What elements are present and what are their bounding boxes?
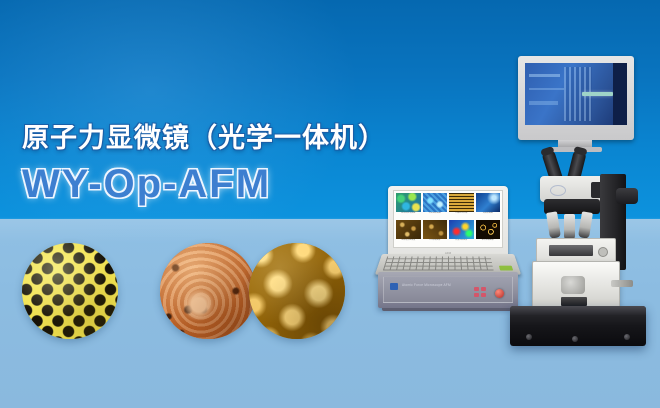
banner-root: 原子力显微镜（光学一体机） WY-Op-AFM 纳米颗粒形貌图 石墨烯表面图	[0, 0, 660, 408]
scanner-dial[interactable]	[561, 276, 585, 294]
sample-shading-overlay	[249, 243, 345, 339]
thumb-rainbow-heatmap: 高度伪彩图像	[449, 220, 474, 245]
brand-logo-icon	[550, 185, 566, 196]
stage-adjust-screw[interactable]	[598, 247, 608, 257]
thumb-caption: 纳米颗粒形貌图	[396, 212, 421, 218]
optical-afm-combined-instrument	[496, 56, 660, 348]
thumb-image	[423, 193, 448, 212]
granite-base	[510, 306, 646, 346]
thumb-caption: 光栅标定样品	[449, 212, 474, 218]
focus-knob[interactable]	[616, 188, 638, 204]
objective-lens	[546, 211, 561, 238]
monitor	[518, 56, 634, 140]
controller-button[interactable]	[474, 287, 479, 291]
controller-logo-icon	[390, 283, 398, 290]
sample-circle-nanopore-array	[22, 243, 118, 339]
controller-button[interactable]	[481, 287, 486, 291]
thumb-image	[396, 193, 421, 212]
thumb-brown-grain-a: 金属镀层粗糙度	[396, 220, 421, 245]
thumb-caption: ITO薄膜图像	[423, 239, 448, 245]
thumb-blue-speckle: 石墨烯表面图	[423, 193, 448, 218]
thumb-image	[396, 220, 421, 239]
screen-band	[529, 101, 558, 104]
leveling-foot	[526, 334, 532, 340]
objective-lens	[578, 211, 593, 238]
screen-band	[529, 74, 560, 77]
screen-band	[529, 88, 564, 90]
thumb-image	[449, 220, 474, 239]
thumb-caption: 金属镀层粗糙度	[396, 239, 421, 245]
granite-top-surface	[510, 306, 646, 315]
laptop-screen: 纳米颗粒形貌图 石墨烯表面图 光栅标定样品 薄膜表面图 金属镀层粗糙度	[393, 190, 503, 248]
controller-label: Atomic Force Microscope AFM	[402, 283, 451, 287]
sample-circle-copper-topography	[160, 243, 256, 339]
screen-dark-edge	[613, 63, 627, 125]
thumb-brown-grain-b: ITO薄膜图像	[423, 220, 448, 245]
controller-button[interactable]	[474, 293, 479, 297]
thumb-image	[423, 220, 448, 239]
leveling-foot	[624, 334, 630, 340]
thumb-caption: 高度伪彩图像	[449, 239, 474, 245]
thumb-caption: 石墨烯表面图	[423, 212, 448, 218]
sample-circle-gold-nanograins	[249, 243, 345, 339]
objective-lens	[564, 214, 575, 240]
controller-base	[382, 308, 514, 311]
eyecup-icon	[540, 146, 555, 157]
sample-shading-overlay	[160, 243, 256, 339]
laptop-lid: 纳米颗粒形貌图 石墨烯表面图 光栅标定样品 薄膜表面图 金属镀层粗糙度	[388, 186, 508, 258]
thumb-gold-striped: 光栅标定样品	[449, 193, 474, 218]
thumb-image	[449, 193, 474, 212]
keyboard-keys[interactable]	[383, 257, 494, 271]
sample-shading-overlay	[22, 243, 118, 339]
controller-front-panel: Atomic Force Microscope AFM	[383, 276, 513, 303]
monitor-screen	[525, 63, 627, 125]
product-model-name: WY-Op-AFM	[22, 162, 271, 207]
thumb-green-phase: 纳米颗粒形貌图	[396, 193, 421, 218]
cantilever-overlay	[582, 92, 613, 96]
leveling-foot	[572, 336, 578, 342]
controller-button[interactable]	[481, 293, 486, 297]
stage-slot	[549, 245, 593, 256]
afm-scanner-head	[532, 261, 620, 311]
scanner-plate	[561, 297, 587, 306]
page-title: 原子力显微镜（光学一体机）	[22, 116, 386, 155]
scanner-translation-screw[interactable]	[611, 280, 633, 287]
controller-button-grid[interactable]	[474, 287, 486, 297]
